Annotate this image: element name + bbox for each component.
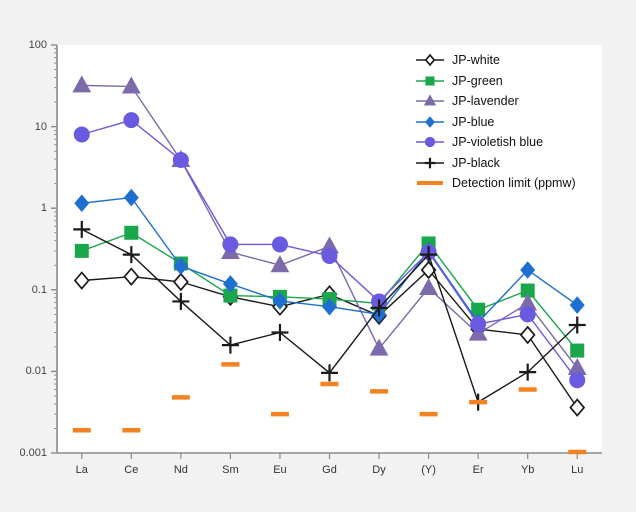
legend-item-jp-lavender[interactable]: JP-lavender: [415, 91, 576, 112]
y-tick-label: 0.01: [0, 365, 47, 377]
legend-item-label: JP-black: [452, 157, 500, 170]
legend-item-label: JP-blue: [452, 116, 494, 129]
chart-legend: JP-whiteJP-greenJP-lavenderJP-blueJP-vio…: [415, 50, 576, 194]
legend-marker-icon: [415, 74, 445, 88]
y-tick-label: 0.001: [0, 447, 47, 459]
x-tick-label: Eu: [273, 464, 286, 476]
x-tick-label: Lu: [571, 464, 583, 476]
legend-item-jp-blue[interactable]: JP-blue: [415, 112, 576, 133]
legend-item-jp-violetish-blue[interactable]: JP-violetish blue: [415, 132, 576, 153]
legend-item-detection-limit-ppmw[interactable]: Detection limit (ppmw): [415, 173, 576, 194]
legend-marker-icon: [415, 115, 445, 129]
x-tick-label: Nd: [174, 464, 188, 476]
rare-earth-element-log-plot: 1001010.10.010.001 LaCeNdSmEuGdDy(Y)ErYb…: [0, 0, 636, 512]
legend-item-jp-black[interactable]: JP-black: [415, 153, 576, 174]
y-tick-label: 10: [0, 121, 47, 133]
legend-item-jp-white[interactable]: JP-white: [415, 50, 576, 71]
legend-marker-icon: [415, 135, 445, 149]
legend-item-jp-green[interactable]: JP-green: [415, 71, 576, 92]
y-tick-label: 100: [0, 39, 47, 51]
legend-marker-icon: [415, 53, 445, 67]
x-tick-label: Er: [473, 464, 484, 476]
legend-item-label: JP-lavender: [452, 95, 519, 108]
y-tick-label: 1: [0, 202, 47, 214]
x-tick-label: La: [76, 464, 88, 476]
legend-item-label: JP-green: [452, 75, 503, 88]
x-tick-label: Dy: [372, 464, 385, 476]
x-tick-label: Sm: [222, 464, 239, 476]
legend-item-label: JP-white: [452, 54, 500, 67]
legend-marker-icon: [415, 156, 445, 170]
legend-item-label: JP-violetish blue: [452, 136, 543, 149]
x-tick-label: (Y): [421, 464, 436, 476]
y-tick-label: 0.1: [0, 284, 47, 296]
x-tick-label: Gd: [322, 464, 337, 476]
legend-item-label: Detection limit (ppmw): [452, 177, 576, 190]
legend-marker-icon: [415, 176, 445, 190]
legend-marker-icon: [415, 94, 445, 108]
series-jp-white: [75, 262, 584, 416]
x-tick-label: Yb: [521, 464, 534, 476]
x-tick-label: Ce: [124, 464, 138, 476]
